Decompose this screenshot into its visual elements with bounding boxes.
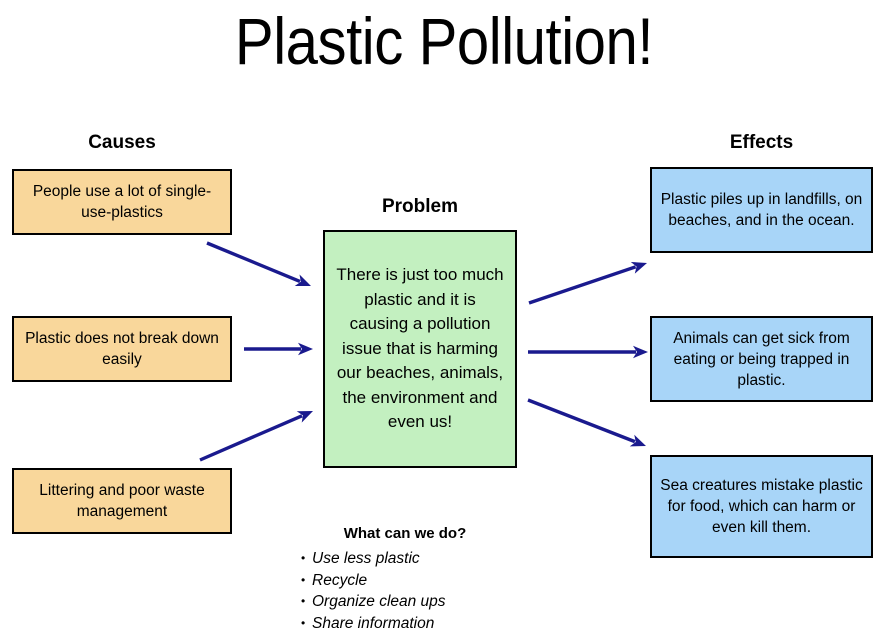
effect-node-label: Plastic piles up in landfills, on beache…: [660, 189, 863, 231]
effects-column-heading: Effects: [650, 132, 873, 154]
cause-node-label: Littering and poor waste management: [22, 480, 222, 522]
problem-node-label: There is just too much plastic and it is…: [335, 263, 505, 435]
actions-section: What can we do? Use less plasticRecycleO…: [280, 524, 580, 634]
effect-node[interactable]: Sea creatures mistake plastic for food, …: [650, 455, 873, 558]
page-title: Plastic Pollution!: [53, 2, 834, 80]
action-list-item: Recycle: [301, 570, 580, 592]
action-list-item: Use less plastic: [301, 548, 580, 570]
cause-node[interactable]: People use a lot of single-use-plastics: [12, 169, 232, 235]
problem-node[interactable]: There is just too much plastic and it is…: [323, 230, 517, 468]
effect-node-label: Animals can get sick from eating or bein…: [660, 328, 863, 391]
actions-heading: What can we do?: [280, 524, 530, 543]
action-list-item: Share information: [301, 613, 580, 634]
actions-list: Use less plasticRecycleOrganize clean up…: [280, 548, 580, 634]
arrow-problem-to-effect-2: [528, 346, 648, 358]
arrow-problem-to-effect-3: [528, 400, 646, 446]
cause-node-label: People use a lot of single-use-plastics: [22, 181, 222, 223]
cause-node-label: Plastic does not break down easily: [22, 328, 222, 370]
action-list-item: Organize clean ups: [301, 591, 580, 613]
causes-column-heading: Causes: [12, 132, 232, 154]
arrow-problem-to-effect-1: [529, 262, 647, 303]
effect-node[interactable]: Animals can get sick from eating or bein…: [650, 316, 873, 402]
effect-node-label: Sea creatures mistake plastic for food, …: [660, 475, 863, 538]
arrow-cause-1-to-problem: [207, 243, 311, 286]
cause-node[interactable]: Littering and poor waste management: [12, 468, 232, 534]
cause-node[interactable]: Plastic does not break down easily: [12, 316, 232, 382]
diagram-canvas: Plastic Pollution! Causes Problem Effect…: [0, 0, 888, 634]
arrow-cause-2-to-problem: [244, 343, 313, 355]
effect-node[interactable]: Plastic piles up in landfills, on beache…: [650, 167, 873, 253]
problem-column-heading: Problem: [323, 196, 517, 218]
arrow-cause-3-to-problem: [200, 411, 313, 460]
